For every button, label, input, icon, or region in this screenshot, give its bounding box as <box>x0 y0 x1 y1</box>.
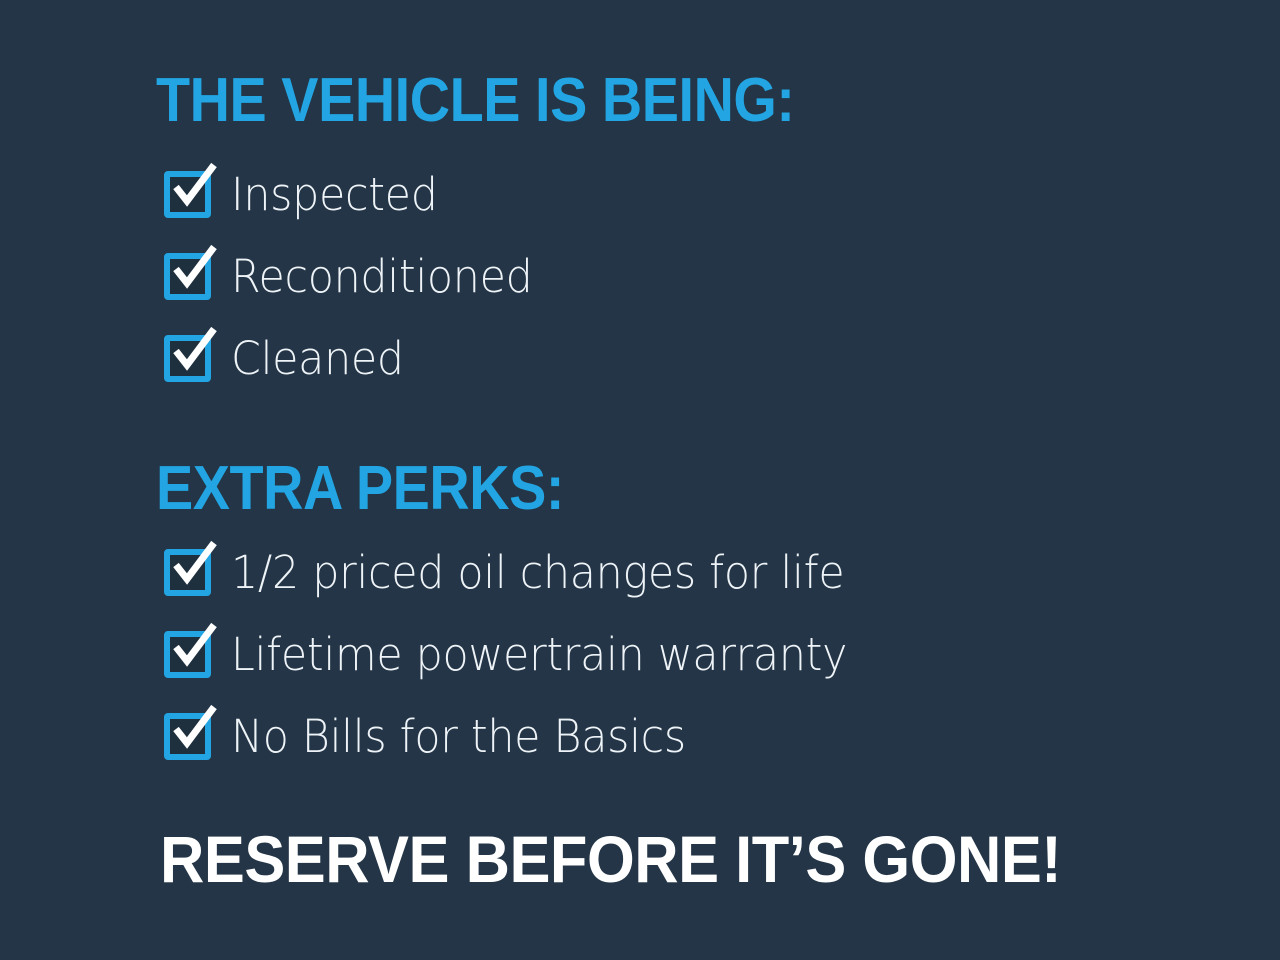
checkbox-checked-icon[interactable] <box>164 549 211 596</box>
checklist-item-label: Reconditioned <box>231 248 532 306</box>
checklist-item[interactable]: Inspected <box>164 166 548 248</box>
checklist-item-label: Cleaned <box>231 330 404 388</box>
checkbox-checked-icon[interactable] <box>164 253 211 300</box>
checklist-item-label: Inspected <box>231 166 438 224</box>
vehicle-promo-card: THE VEHICLE IS BEING: Inspected Recondit… <box>0 0 1280 960</box>
checklist-item[interactable]: Lifetime powertrain warranty <box>164 626 880 708</box>
cta-headline: RESERVE BEFORE IT’S GONE! <box>160 826 1061 892</box>
checklist-item[interactable]: 1/2 priced oil changes for life <box>164 544 880 626</box>
checklist-item[interactable]: Reconditioned <box>164 248 548 330</box>
checklist-item-label: 1/2 priced oil changes for life <box>231 544 844 602</box>
checklist-perks: 1/2 priced oil changes for life Lifetime… <box>164 544 880 790</box>
checklist-item[interactable]: Cleaned <box>164 330 548 412</box>
checklist-vehicle: Inspected Reconditioned Cleaned <box>164 166 548 412</box>
checkbox-checked-icon[interactable] <box>164 335 211 382</box>
section-heading-vehicle: THE VEHICLE IS BEING: <box>156 70 795 132</box>
checkbox-checked-icon[interactable] <box>164 171 211 218</box>
checklist-item-label: No Bills for the Basics <box>231 708 686 766</box>
checklist-item[interactable]: No Bills for the Basics <box>164 708 880 790</box>
section-heading-perks: EXTRA PERKS: <box>156 458 564 520</box>
checkbox-checked-icon[interactable] <box>164 713 211 760</box>
checkbox-checked-icon[interactable] <box>164 631 211 678</box>
checklist-item-label: Lifetime powertrain warranty <box>231 626 847 684</box>
